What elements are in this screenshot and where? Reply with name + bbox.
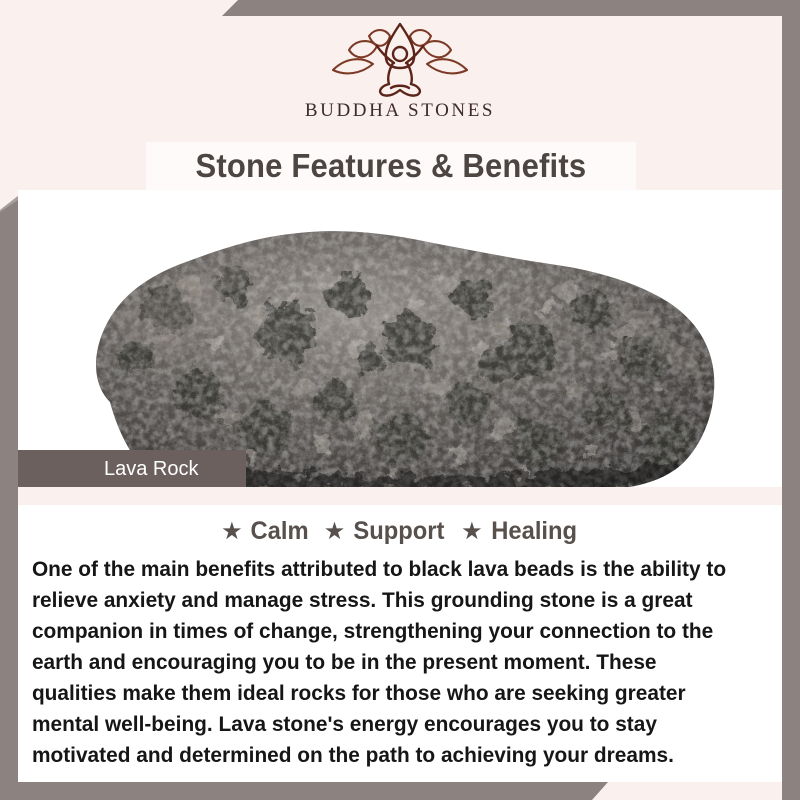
benefit-calm: ★ Calm xyxy=(221,517,310,546)
lava-rock-photo xyxy=(18,190,782,487)
brand-header: BUDDHA STONES xyxy=(0,0,800,140)
lotus-meditation-figure-icon xyxy=(325,18,475,98)
star-icon: ★ xyxy=(221,520,243,544)
stone-name-banner: Lava Rock xyxy=(18,450,246,488)
page-title: Stone Features & Benefits xyxy=(196,147,587,185)
description-paragraph: One of the main benefits attributed to b… xyxy=(30,554,748,771)
frame-band-bottom xyxy=(0,782,608,800)
stone-name-label: Lava Rock xyxy=(104,458,199,481)
star-icon: ★ xyxy=(461,520,483,544)
frame-band-left-bevel xyxy=(0,196,18,212)
benefit-healing: ★ Healing xyxy=(461,517,579,546)
brand-wordmark: BUDDHA STONES xyxy=(305,100,495,122)
photo-text-separator xyxy=(18,487,782,505)
frame-band-left xyxy=(0,196,18,800)
benefit-label-calm: Calm xyxy=(250,517,308,546)
benefits-row: ★ Calm ★ Support ★ Healing xyxy=(30,517,770,546)
benefit-label-healing: Healing xyxy=(491,517,577,546)
benefit-label-support: Support xyxy=(354,517,445,546)
infographic-card: BUDDHA STONES Stone Features & Benefits xyxy=(0,0,800,800)
star-icon: ★ xyxy=(324,520,346,544)
description-panel: ★ Calm ★ Support ★ Healing One of the ma… xyxy=(18,505,782,782)
benefit-support: ★ Support xyxy=(324,517,447,546)
section-title-band: Stone Features & Benefits xyxy=(146,142,636,190)
stone-photo xyxy=(18,190,782,487)
